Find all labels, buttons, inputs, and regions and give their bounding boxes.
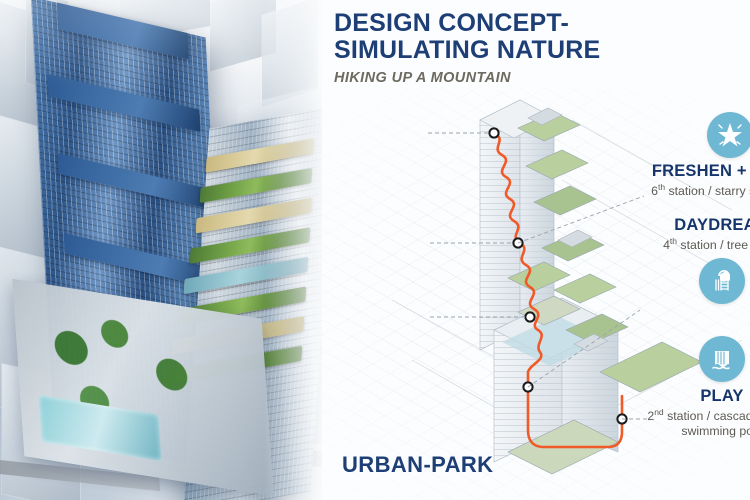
presentation-board: DESIGN CONCEPT- SIMULATING NATURE HIKING…	[0, 0, 750, 500]
star-sparkle-icon	[707, 112, 750, 158]
station-ordinal-suffix: th	[670, 236, 677, 246]
cascade-waterfall-icon	[699, 336, 745, 382]
station-caption-rest: station / starry sky lounge	[665, 184, 750, 198]
station-ordinal-suffix: nd	[654, 407, 663, 417]
station-caption-line2: swimming pool	[681, 424, 750, 438]
station-ordinal: 6	[651, 184, 658, 198]
callout-title: PLAY	[622, 387, 750, 406]
callout-caption: 2nd station / cascade pool +swimming poo…	[622, 407, 750, 439]
station-marker-4	[525, 312, 534, 321]
photo-edge-fade	[0, 0, 322, 500]
callout-title: FRESHEN + PARTY	[622, 162, 750, 181]
aerial-building-rendering	[0, 0, 322, 500]
concept-diagram-panel: DESIGN CONCEPT- SIMULATING NATURE HIKING…	[322, 0, 750, 500]
callout-caption: 4th station / tree cabin	[622, 236, 750, 253]
urban-park-label: URBAN-PARK	[342, 452, 493, 478]
station-ordinal: 4	[663, 238, 670, 252]
station-ordinal-suffix: th	[658, 182, 665, 192]
callout-caption: 6th station / starry sky lounge	[622, 182, 750, 199]
station-caption-rest: station / cascade pool +	[664, 409, 750, 423]
station-marker-6	[489, 128, 498, 137]
tree-cabin-icon	[699, 258, 745, 304]
callout-title: DAYDREAM	[622, 216, 750, 235]
station-caption-rest: station / tree cabin	[677, 238, 750, 252]
callout-freshen-party[interactable]: FRESHEN + PARTY 6th station / starry sky…	[622, 112, 750, 199]
callout-daydream[interactable]: DAYDREAM 4th station / tree cabin	[622, 212, 750, 304]
callout-play[interactable]: PLAY 2nd station / cascade pool +swimmin…	[622, 336, 750, 439]
